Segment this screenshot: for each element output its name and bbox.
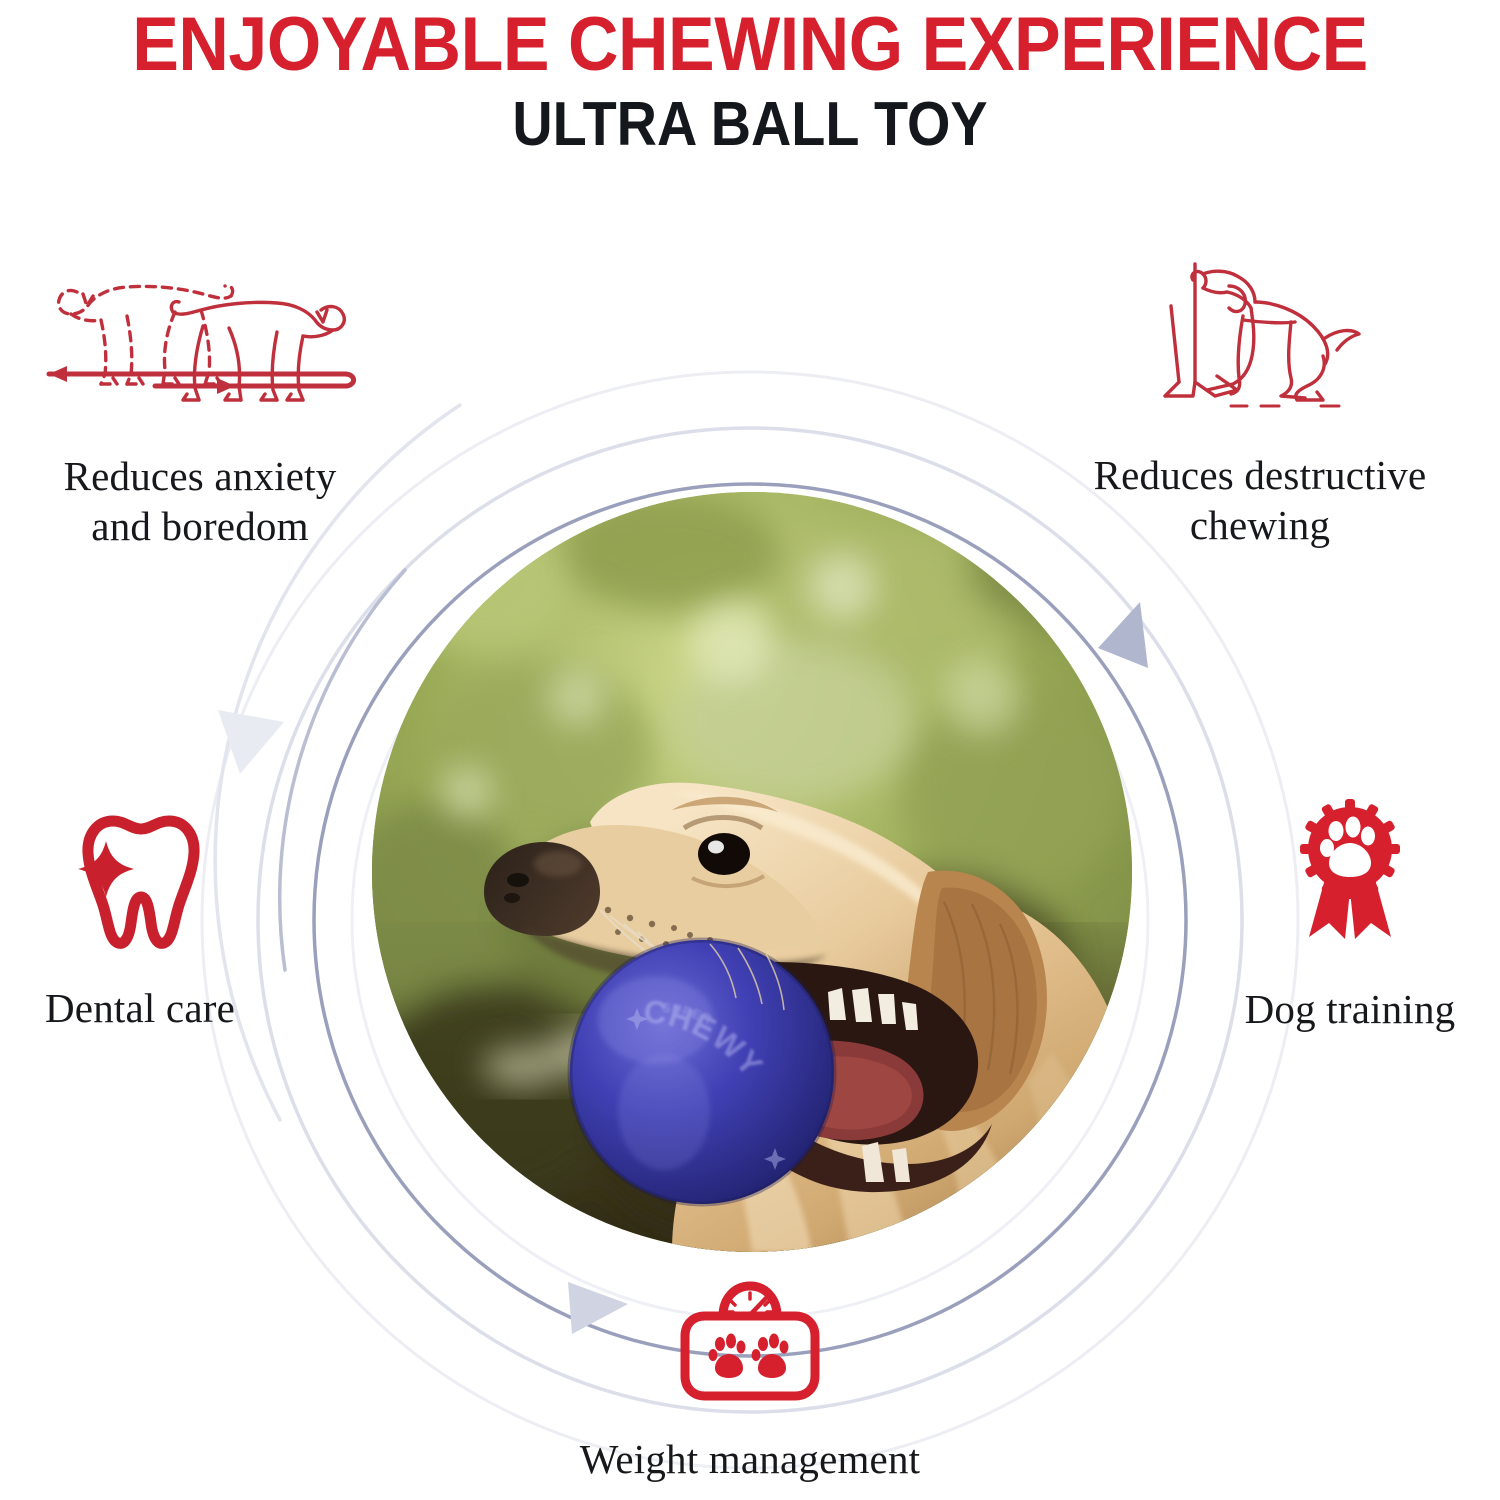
feature-label-training: Dog training	[1245, 986, 1456, 1032]
feature-weight-management: Weight management	[490, 1272, 1010, 1484]
feature-dental-care: Dental care	[0, 805, 280, 1033]
two-dogs-walking-icon	[0, 252, 400, 417]
ring-arrow-left	[218, 710, 284, 774]
center-photo: SUPER CHEWY	[372, 492, 1132, 1252]
dog-chewing-furniture-icon	[1025, 250, 1495, 420]
header: ENJOYABLE CHEWING EXPERIENCE ULTRA BALL …	[0, 0, 1500, 158]
feature-dog-training: Dog training	[1200, 795, 1500, 1034]
feature-reduces-destructive-chewing: Reduces destructive chewing	[1025, 250, 1495, 550]
feature-label-weight: Weight management	[580, 1436, 921, 1482]
infographic-page: ENJOYABLE CHEWING EXPERIENCE ULTRA BALL …	[0, 0, 1500, 1500]
ring-arrow-upper-right	[1098, 602, 1148, 668]
feature-label-anxiety: Reduces anxiety and boredom	[64, 453, 337, 549]
page-title: ENJOYABLE CHEWING EXPERIENCE	[60, 0, 1440, 84]
blue-ball: SUPER CHEWY	[570, 940, 834, 1204]
weight-scale-paws-icon	[490, 1272, 1010, 1412]
feature-label-destructive: Reduces destructive chewing	[1094, 452, 1427, 548]
page-subtitle: ULTRA BALL TOY	[75, 92, 1425, 158]
feature-reduces-anxiety: Reduces anxiety and boredom	[0, 252, 400, 551]
tooth-sparkle-icon	[0, 805, 280, 955]
award-rosette-paw-icon	[1200, 795, 1500, 950]
feature-label-dental: Dental care	[45, 985, 235, 1031]
